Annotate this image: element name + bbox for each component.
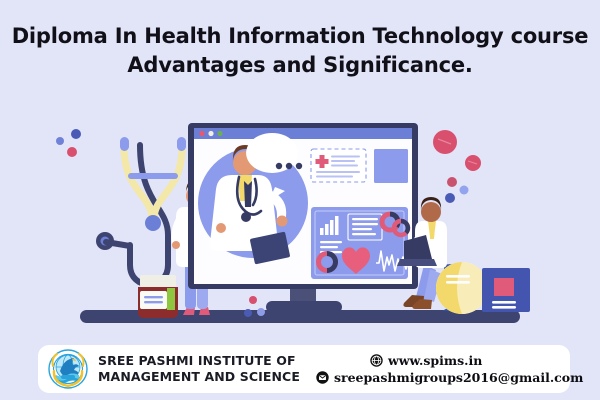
monitor-stand-base [266, 301, 342, 313]
desktop-monitor[interactable] [188, 123, 418, 313]
page-title: Diploma In Health Information Technology… [0, 22, 600, 80]
large-stethoscope [96, 137, 186, 285]
floating-pills-right [433, 130, 481, 203]
globe-icon [370, 354, 383, 367]
medical-record-card[interactable] [311, 149, 366, 182]
email-row[interactable]: sreepashmigroups2016@gmail.com [316, 370, 583, 385]
maximize-dot[interactable] [217, 131, 222, 136]
close-dot[interactable] [199, 131, 204, 136]
spims-emblem-logo [46, 347, 90, 391]
analytics-dashboard-panel[interactable] [311, 207, 411, 279]
website-row[interactable]: www.spims.in [370, 353, 583, 368]
contact-block: www.spims.in sreepashmigroups2016@gmail.… [316, 353, 583, 385]
medicine-capsule [436, 262, 488, 314]
institute-name: SREE PASHMI INSTITUTE OF MANAGEMENT AND … [98, 353, 300, 385]
poster-root: Diploma In Health Information Technology… [0, 0, 600, 400]
monitor-titlebar [194, 128, 412, 139]
medicine-jar [138, 275, 178, 318]
minimize-dot[interactable] [208, 131, 213, 136]
illustration-scene [0, 95, 600, 345]
image-placeholder-tile[interactable] [374, 149, 408, 183]
footer-bar: SREE PASHMI INSTITUTE OF MANAGEMENT AND … [38, 345, 570, 393]
floating-pills-left [56, 129, 81, 157]
email-text: sreepashmigroups2016@gmail.com [334, 370, 583, 385]
envelope-icon [316, 371, 329, 384]
laptop-box [482, 268, 530, 312]
website-text: www.spims.in [388, 353, 482, 368]
